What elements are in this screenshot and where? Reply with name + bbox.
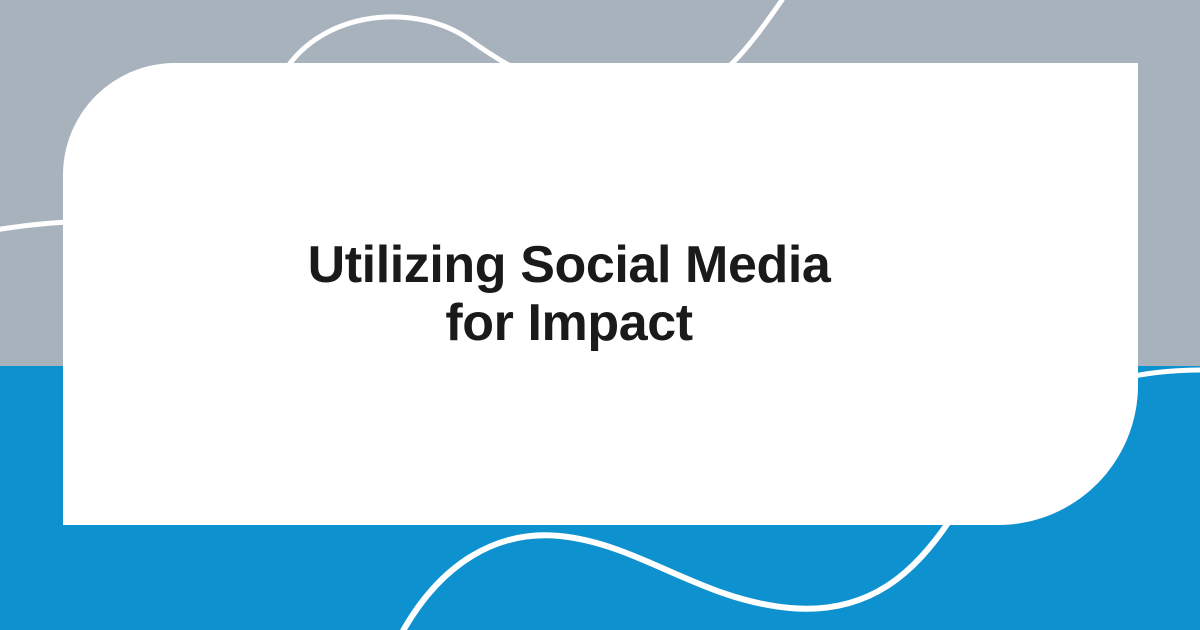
left-edge-line-icon [0, 222, 70, 230]
banner: Utilizing Social Media for Impact [0, 0, 1200, 630]
page-title: Utilizing Social Media for Impact [189, 236, 949, 352]
content-card: Utilizing Social Media for Impact [63, 63, 1138, 525]
title-container: Utilizing Social Media for Impact [189, 236, 949, 352]
bottom-s-curve-line-icon [398, 520, 950, 630]
